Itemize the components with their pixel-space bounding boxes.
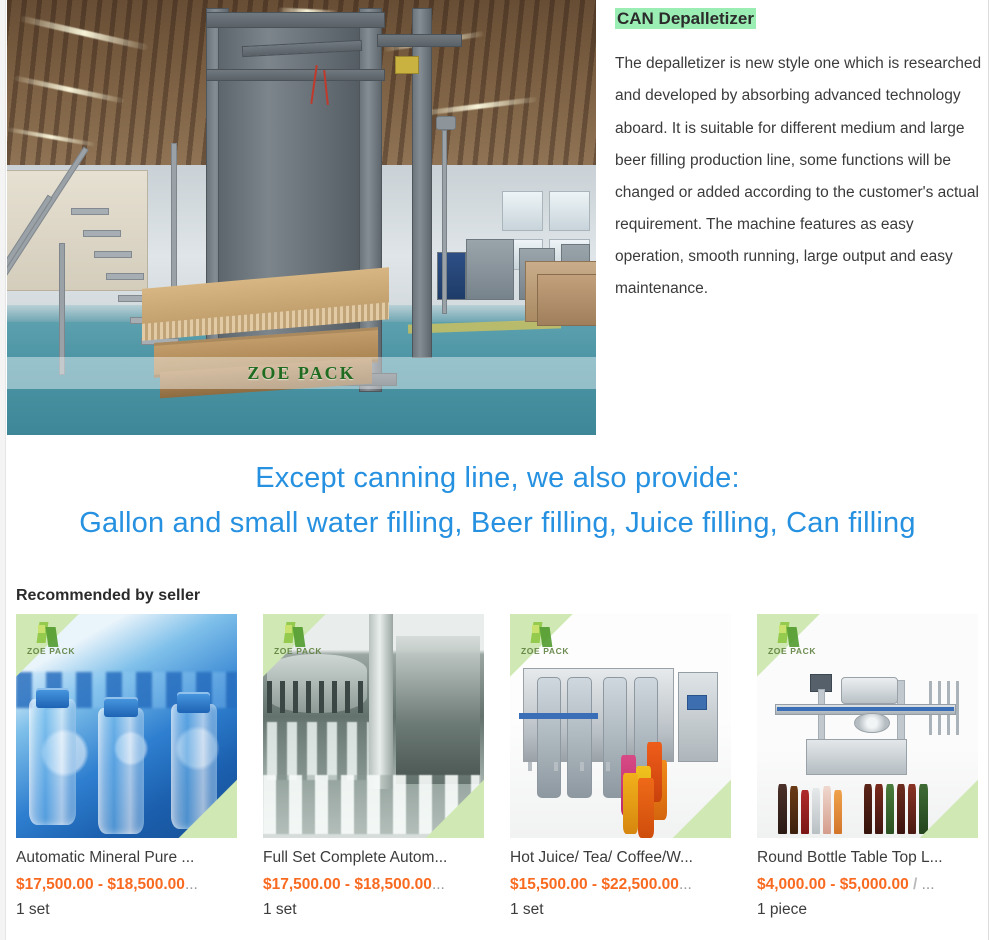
product-min-order: 1 set bbox=[263, 901, 484, 919]
machine-beam bbox=[378, 35, 460, 46]
product-price: $17,500.00 - $18,500.00... bbox=[16, 876, 237, 894]
product-card[interactable]: ZOE PACK Automatic Mineral Pure ... $17,… bbox=[16, 614, 237, 919]
price-ellipsis: ... bbox=[185, 876, 198, 893]
product-card[interactable]: ZOE PACK Full Set Complete Autom... $17,… bbox=[263, 614, 484, 919]
wooden-crate bbox=[537, 274, 596, 326]
promo-line-1: Except canning line, we also provide: bbox=[7, 456, 988, 501]
product-title[interactable]: Full Set Complete Autom... bbox=[263, 848, 484, 869]
promo-line-2: Gallon and small water filling, Beer fil… bbox=[7, 501, 988, 546]
watermark-text: ZOE PACK bbox=[247, 363, 355, 384]
image-watermark-band: ZOE PACK bbox=[7, 357, 596, 389]
stair-railing bbox=[60, 244, 64, 375]
page-left-edge bbox=[0, 0, 6, 940]
stair-step bbox=[84, 231, 120, 236]
product-thumbnail[interactable]: ZOE PACK bbox=[16, 614, 237, 838]
product-price: $4,000.00 - $5,000.00 / ... bbox=[757, 876, 978, 894]
price-range: $4,000.00 - $5,000.00 bbox=[757, 876, 909, 893]
price-ellipsis: ... bbox=[432, 876, 445, 893]
product-thumbnail[interactable]: ZOE PACK bbox=[757, 614, 978, 838]
product-title[interactable]: Round Bottle Table Top L... bbox=[757, 848, 978, 869]
hero-product-image[interactable]: ZOE PACK bbox=[7, 0, 596, 435]
motor-unit bbox=[437, 117, 455, 129]
product-card[interactable]: ZOE PACK Hot Juice/ Tea/ Coffee/W... $15… bbox=[510, 614, 731, 919]
support-pole bbox=[443, 131, 446, 314]
price-unit-separator: / bbox=[913, 876, 917, 893]
window-panel bbox=[502, 191, 543, 230]
recommended-heading: Recommended by seller bbox=[16, 587, 200, 605]
hero-title-wrapper: CAN Depalletizer bbox=[615, 6, 988, 32]
product-title[interactable]: Automatic Mineral Pure ... bbox=[16, 848, 237, 869]
product-price: $17,500.00 - $18,500.00... bbox=[263, 876, 484, 894]
page-scrollbar-edge[interactable] bbox=[988, 0, 995, 940]
stair-railing bbox=[172, 144, 176, 292]
thumb-corner-accent bbox=[757, 614, 978, 838]
product-thumbnail[interactable]: ZOE PACK bbox=[263, 614, 484, 838]
product-title[interactable]: Hot Juice/ Tea/ Coffee/W... bbox=[510, 848, 731, 869]
price-range: $17,500.00 - $18,500.00 bbox=[16, 876, 185, 893]
thumb-corner-accent bbox=[510, 614, 731, 838]
price-ellipsis: ... bbox=[679, 876, 692, 893]
machine-beam bbox=[207, 13, 384, 27]
hero-section: ZOE PACK CAN Depalletizer The depalletiz… bbox=[7, 0, 988, 448]
product-min-order: 1 set bbox=[510, 901, 731, 919]
stair-step bbox=[107, 274, 143, 279]
price-range: $17,500.00 - $18,500.00 bbox=[263, 876, 432, 893]
product-card[interactable]: ZOE PACK Round Bottle Table Top L... $4,… bbox=[757, 614, 978, 919]
thumb-corner-accent bbox=[263, 614, 484, 838]
stair-step bbox=[95, 252, 131, 257]
promo-banner: Except canning line, we also provide: Ga… bbox=[7, 456, 988, 546]
price-range: $15,500.00 - $22,500.00 bbox=[510, 876, 679, 893]
product-detail-page: ZOE PACK CAN Depalletizer The depalletiz… bbox=[0, 0, 995, 940]
recommended-products-list: ZOE PACK Automatic Mineral Pure ... $17,… bbox=[16, 614, 979, 919]
stair-step bbox=[72, 209, 108, 214]
control-box bbox=[396, 57, 418, 73]
thumb-corner-accent bbox=[16, 614, 237, 838]
product-price: $15,500.00 - $22,500.00... bbox=[510, 876, 731, 894]
machine-beam bbox=[207, 70, 384, 80]
product-thumbnail[interactable]: ZOE PACK bbox=[510, 614, 731, 838]
background-machine bbox=[466, 239, 513, 300]
hero-text-column: CAN Depalletizer The depalletizer is new… bbox=[615, 0, 988, 305]
product-min-order: 1 piece bbox=[757, 901, 978, 919]
product-min-order: 1 set bbox=[16, 901, 237, 919]
page-title: CAN Depalletizer bbox=[615, 8, 756, 29]
window-panel bbox=[549, 191, 590, 230]
background-machine bbox=[437, 252, 466, 300]
product-description: The depalletizer is new style one which … bbox=[615, 48, 983, 305]
price-ellipsis: ... bbox=[922, 876, 935, 893]
